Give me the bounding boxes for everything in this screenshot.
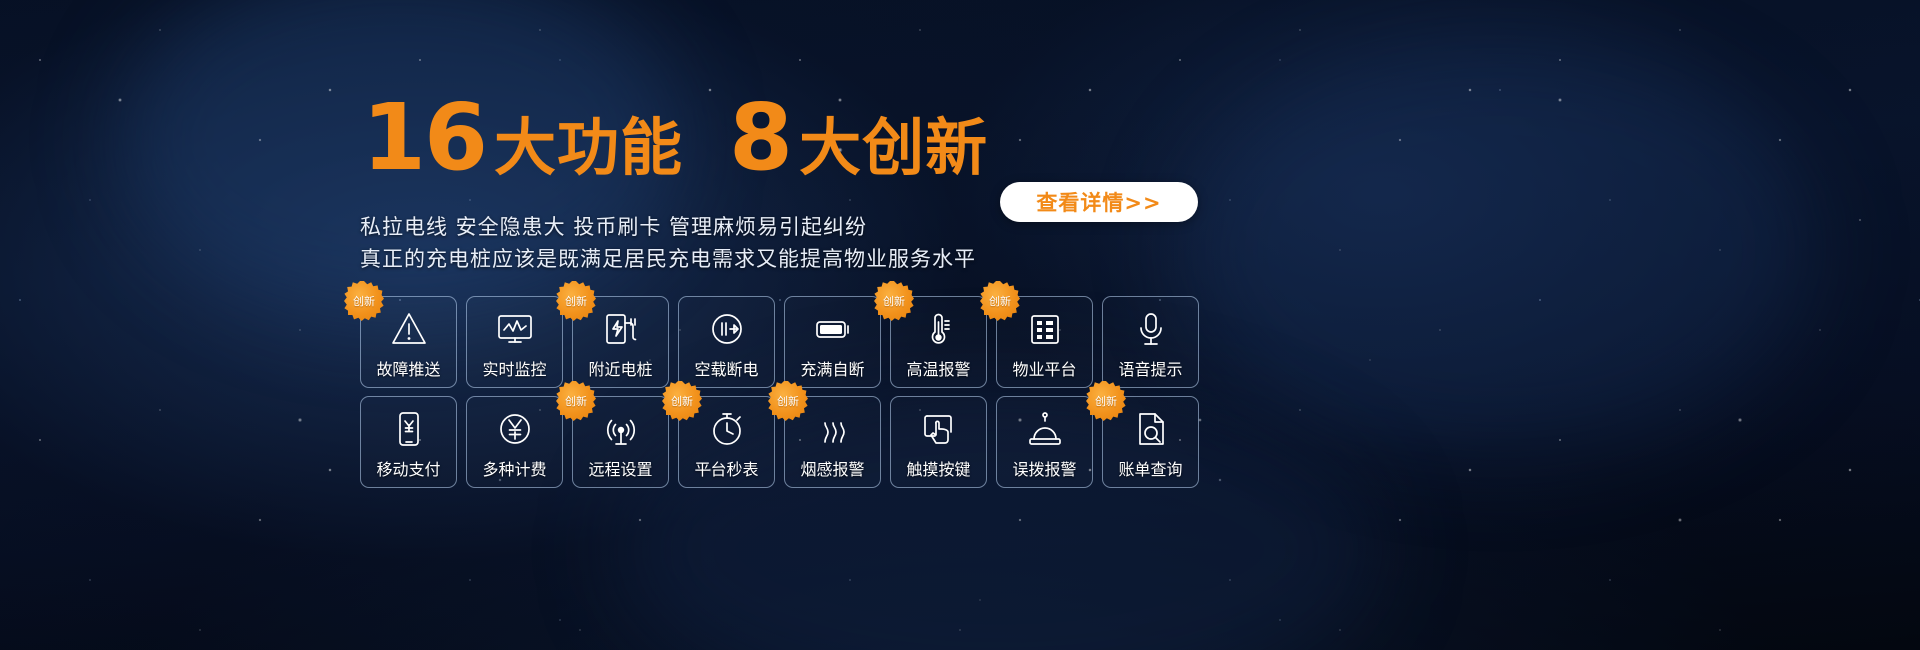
- feature-card[interactable]: 创新物业平台: [996, 296, 1093, 388]
- feature-card-label: 触摸按键: [906, 456, 970, 480]
- innovation-badge: 创新: [980, 281, 1020, 321]
- building-icon: [1024, 308, 1066, 350]
- headline-text-innovations: 大创新: [799, 117, 988, 179]
- subtitle-line-2: 真正的充电桩应该是既满足居民充电需求又能提高物业服务水平: [360, 243, 976, 273]
- feature-card[interactable]: 创新平台秒表: [678, 396, 775, 488]
- yuan-coin-icon: [494, 408, 536, 450]
- thermometer-icon: [918, 308, 960, 350]
- view-details-button[interactable]: 查看详情>>: [1000, 182, 1198, 222]
- feature-card-label: 移动支付: [376, 456, 440, 480]
- feature-card-label: 多种计费: [482, 456, 546, 480]
- mobile-payment-icon: [388, 408, 430, 450]
- headline-number-8: 8: [729, 92, 791, 184]
- feature-card-label: 故障推送: [376, 356, 440, 380]
- microphone-icon: [1130, 308, 1172, 350]
- touch-hand-icon: [918, 408, 960, 450]
- feature-card-label: 误拨报警: [1012, 456, 1076, 480]
- feature-card[interactable]: 创新远程设置: [572, 396, 669, 488]
- feature-card-label: 语音提示: [1118, 356, 1182, 380]
- subtitle-line-1: 私拉电线 安全隐患大 投币刷卡 管理麻烦易引起纠纷: [360, 211, 867, 241]
- feature-card[interactable]: 移动支付: [360, 396, 457, 488]
- battery-full-icon: [812, 308, 854, 350]
- warning-triangle-icon: [388, 308, 430, 350]
- headline-number-16: 16: [362, 92, 486, 184]
- alarm-bell-icon: [1024, 408, 1066, 450]
- charging-pile-icon: [600, 308, 642, 350]
- feature-card[interactable]: 充满自断: [784, 296, 881, 388]
- feature-row-2: 移动支付多种计费创新远程设置创新平台秒表创新烟感报警触摸按键误拨报警创新账单查询: [360, 396, 1204, 488]
- feature-card-label: 平台秒表: [694, 456, 758, 480]
- feature-card[interactable]: 创新故障推送: [360, 296, 457, 388]
- monitor-waveform-icon: [494, 308, 536, 350]
- banner-content: 16 大功能 8 大创新 私拉电线 安全隐患大 投币刷卡 管理麻烦易引起纠纷 真…: [0, 0, 1920, 650]
- feature-card[interactable]: 多种计费: [466, 396, 563, 488]
- headline: 16 大功能 8 大创新: [362, 92, 988, 184]
- feature-card[interactable]: 创新烟感报警: [784, 396, 881, 488]
- feature-card[interactable]: 创新高温报警: [890, 296, 987, 388]
- feature-card-label: 充满自断: [800, 356, 864, 380]
- feature-card[interactable]: 空载断电: [678, 296, 775, 388]
- bill-search-icon: [1130, 408, 1172, 450]
- innovation-badge: 创新: [556, 281, 596, 321]
- smoke-detector-icon: [812, 408, 854, 450]
- feature-card[interactable]: 语音提示: [1102, 296, 1199, 388]
- feature-card[interactable]: 创新附近电桩: [572, 296, 669, 388]
- feature-card[interactable]: 创新账单查询: [1102, 396, 1199, 488]
- feature-card-label: 空载断电: [694, 356, 758, 380]
- feature-card-label: 烟感报警: [800, 456, 864, 480]
- feature-card[interactable]: 误拨报警: [996, 396, 1093, 488]
- headline-text-functions: 大功能: [494, 117, 683, 179]
- wireless-signal-icon: [600, 408, 642, 450]
- feature-card[interactable]: 实时监控: [466, 296, 563, 388]
- stopwatch-icon: [706, 408, 748, 450]
- feature-grid: 创新故障推送实时监控创新附近电桩空载断电充满自断创新高温报警创新物业平台语音提示…: [360, 296, 1204, 496]
- innovation-badge: 创新: [344, 281, 384, 321]
- feature-card-label: 远程设置: [588, 456, 652, 480]
- feature-card-label: 实时监控: [482, 356, 546, 380]
- feature-card-label: 物业平台: [1012, 356, 1076, 380]
- power-cut-plug-icon: [706, 308, 748, 350]
- promo-banner: 16 大功能 8 大创新 私拉电线 安全隐患大 投币刷卡 管理麻烦易引起纠纷 真…: [0, 0, 1920, 650]
- feature-card[interactable]: 触摸按键: [890, 396, 987, 488]
- feature-card-label: 附近电桩: [588, 356, 652, 380]
- feature-card-label: 账单查询: [1118, 456, 1182, 480]
- feature-card-label: 高温报警: [906, 356, 970, 380]
- innovation-badge: 创新: [874, 281, 914, 321]
- feature-row-1: 创新故障推送实时监控创新附近电桩空载断电充满自断创新高温报警创新物业平台语音提示: [360, 296, 1204, 388]
